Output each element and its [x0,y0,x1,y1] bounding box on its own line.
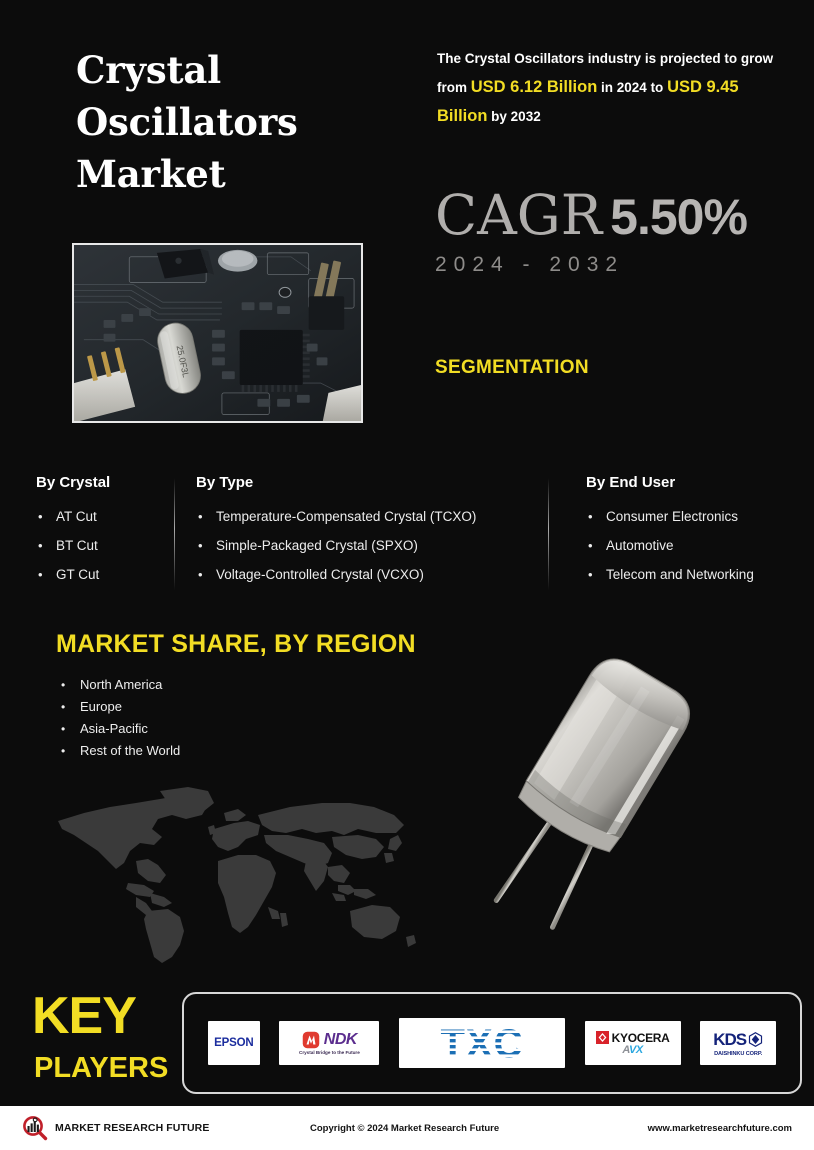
cagr-block: CAGR5.50% 2024 - 2032 [435,188,747,277]
market-share-title: MARKET SHARE, BY REGION [56,630,416,659]
key-players-logo-box: EPSON NDK Crystal Bridge to the Future [182,992,802,1094]
list-item: Telecom and Networking [586,560,796,589]
cagr-label: CAGR [435,183,602,247]
pcb-illustration: 25.0F3L [74,245,361,423]
list-item: Simple-Packaged Crystal (SPXO) [196,531,526,560]
list-item: Rest of the World [58,740,180,762]
stat-tail: by 2032 [487,109,540,124]
segmentation-column-by-end-user: By End User Consumer Electronics Automot… [586,474,796,589]
logo-strip: EPSON NDK Crystal Bridge to the Future [184,994,800,1092]
logo-kyocera-inner: KYOCERA AVX [596,1031,670,1056]
logo-epson: EPSON [208,1021,260,1065]
crystal-oscillator-image [472,655,752,945]
list-item: Consumer Electronics [586,502,796,531]
stat-mid: in 2024 to [597,80,667,95]
list-item: GT Cut [36,560,166,589]
list-item: BT Cut [36,531,166,560]
logo-epson-text: EPSON [214,1037,253,1049]
footer-copyright: Copyright © 2024 Market Research Future [310,1123,499,1134]
footer-brand-text: MARKET RESEARCH FUTURE [55,1122,209,1134]
key-players-label-top: KEY [32,988,136,1044]
segmentation-column-title: By Crystal [36,474,166,491]
ndk-mark-icon [302,1031,320,1049]
page-title: Crystal Oscillators Market [76,44,406,200]
logo-kds-row: KDS [713,1030,763,1050]
logo-txc-mark: TXC [403,1021,561,1065]
kyocera-mark-icon [596,1031,609,1044]
segmentation-column-by-crystal: By Crystal AT Cut BT Cut GT Cut [36,474,166,589]
segmentation-column-title: By End User [586,474,796,491]
logo-ndk-inner: NDK Crystal Bridge to the Future [299,1031,360,1055]
list-item: North America [58,674,180,696]
logo-ndk-tagline: Crystal Bridge to the Future [299,1050,360,1055]
list-item: Temperature-Compensated Crystal (TCXO) [196,502,526,531]
kds-hexagon-icon [748,1032,763,1047]
list-item: Asia-Pacific [58,718,180,740]
footer-url[interactable]: www.marketresearchfuture.com [648,1123,792,1134]
segmentation-list: Temperature-Compensated Crystal (TCXO) S… [196,502,526,589]
cagr-line: CAGR5.50% [435,188,747,243]
market-research-future-logo-icon [22,1115,48,1141]
list-item: Europe [58,696,180,718]
logo-kds-text: KDS [713,1030,746,1050]
segmentation-heading: SEGMENTATION [435,357,589,379]
list-item: Voltage-Controlled Crystal (VCXO) [196,560,526,589]
segmentation-column-title: By Type [196,474,526,491]
pcb-photo: 25.0F3L [72,243,363,423]
logo-ndk: NDK Crystal Bridge to the Future [279,1021,379,1065]
key-players-label-bottom: PLAYERS [34,1052,168,1084]
segmentation-row: By Crystal AT Cut BT Cut GT Cut By Type … [0,474,814,596]
stat-value-2024: USD 6.12 Billion [471,78,598,96]
logo-ndk-text: NDK [324,1031,357,1049]
cagr-period: 2024 - 2032 [435,253,747,277]
logo-kyocera-avx: KYOCERA AVX [585,1021,681,1065]
footer: MARKET RESEARCH FUTURE Copyright © 2024 … [0,1106,814,1150]
list-item: AT Cut [36,502,166,531]
logo-txc: TXC [399,1018,565,1068]
logo-kds-tagline: DAISHINKU CORP. [714,1051,762,1057]
world-map [32,785,432,965]
list-item: Automotive [586,531,796,560]
footer-brand: MARKET RESEARCH FUTURE [22,1115,209,1141]
logo-avx-text: AVX [622,1044,642,1056]
segmentation-list: AT Cut BT Cut GT Cut [36,502,166,589]
logo-kds-inner: KDS DAISHINKU CORP. [713,1030,763,1057]
cagr-value: 5.50% [610,189,747,245]
segmentation-list: Consumer Electronics Automotive Telecom … [586,502,796,589]
logo-ndk-row: NDK [302,1031,357,1049]
logo-kds: KDS DAISHINKU CORP. [700,1021,776,1065]
segmentation-column-by-type: By Type Temperature-Compensated Crystal … [196,474,526,589]
market-value-statement: The Crystal Oscillators industry is proj… [437,45,782,131]
market-share-region-list: North America Europe Asia-Pacific Rest o… [58,674,180,762]
infographic-page: Crystal Oscillators Market [0,0,814,1150]
logo-kyocera-text: KYOCERA [612,1031,670,1045]
logo-kyocera-row: KYOCERA [596,1031,670,1045]
